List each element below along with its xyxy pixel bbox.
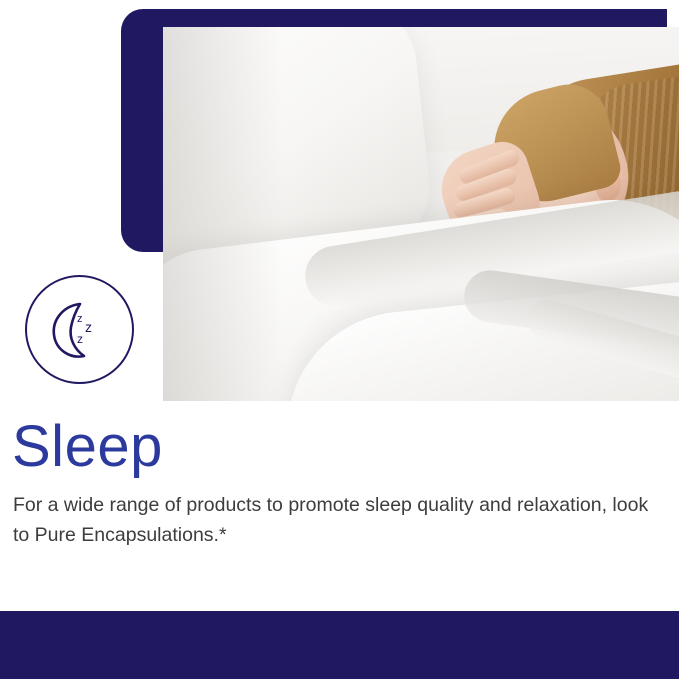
sleep-promo-card: z z z Sleep For a wide range of products…	[0, 0, 679, 679]
svg-text:z: z	[77, 313, 83, 325]
page-title: Sleep	[12, 418, 163, 476]
svg-text:z: z	[85, 319, 92, 335]
page-subtitle: For a wide range of products to promote …	[13, 490, 653, 550]
sleeping-woman-photo	[163, 27, 679, 401]
footer-bar: *These statements have not been evaluate…	[0, 611, 679, 679]
photo-left-shadow	[163, 27, 283, 401]
sleep-badge: z z z	[25, 275, 134, 384]
svg-text:z: z	[77, 332, 83, 346]
moon-zzz-icon: z z z	[27, 277, 128, 378]
